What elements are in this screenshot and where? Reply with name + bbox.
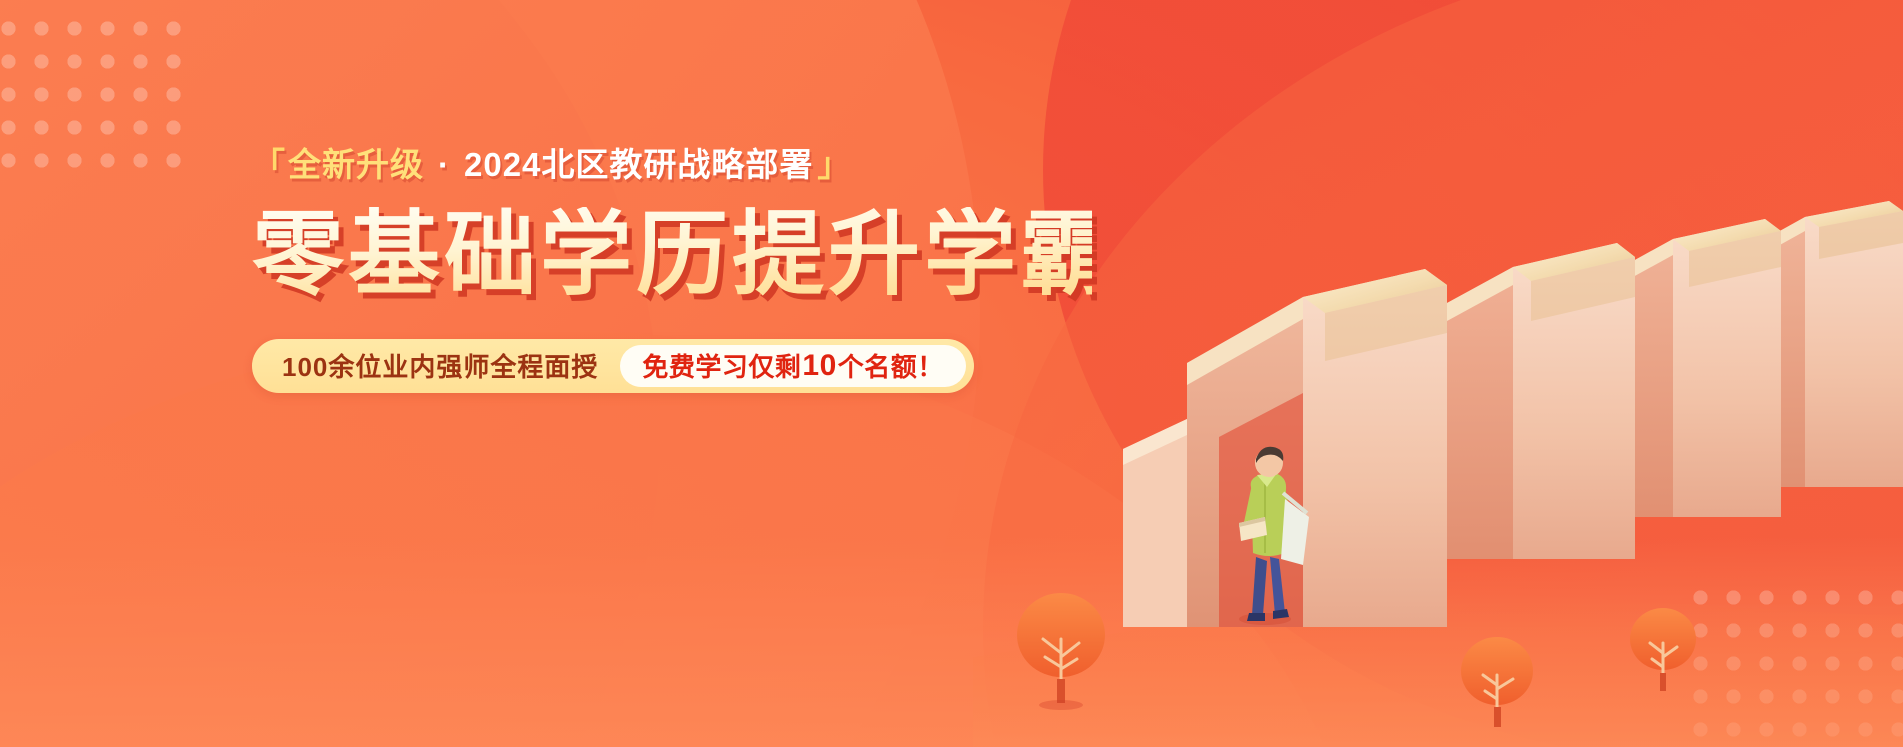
pill-seats-suffix: 个名额！ [838,347,944,384]
eyebrow-white-text: 2024北区教研战略部署 [464,148,813,181]
eyebrow-separator: · [438,148,450,181]
eyebrow-bracket-close: 」 [817,148,851,181]
background-bottom-wave [0,537,1903,747]
pill-seats-badge: 免费学习仅剩10个名额！ [620,345,965,387]
banner-eyebrow: 「 全新升级 · 2024北区教研战略部署 」 [252,148,1092,181]
banner-copy: 「 全新升级 · 2024北区教研战略部署 」 零基础学历提升学霸班 100余位… [252,148,1092,393]
dot-grid-bottom-right-icon [1684,581,1903,741]
banner-feature-pill: 100余位业内强师全程面授 免费学习仅剩10个名额！ [252,339,974,393]
banner-headline: 零基础学历提升学霸班 [252,207,1092,305]
pill-instructors-label: 100余位业内强师全程面授 [282,347,620,384]
dot-grid-top-left-icon [0,12,182,182]
pill-seats-prefix: 免费学习仅剩 [642,347,801,384]
eyebrow-gold-text: 全新升级 [288,148,424,181]
pill-seats-count: 10 [801,349,837,383]
eyebrow-bracket-open: 「 [252,148,286,181]
promo-banner: 「 全新升级 · 2024北区教研战略部署 」 零基础学历提升学霸班 100余位… [0,0,1903,747]
